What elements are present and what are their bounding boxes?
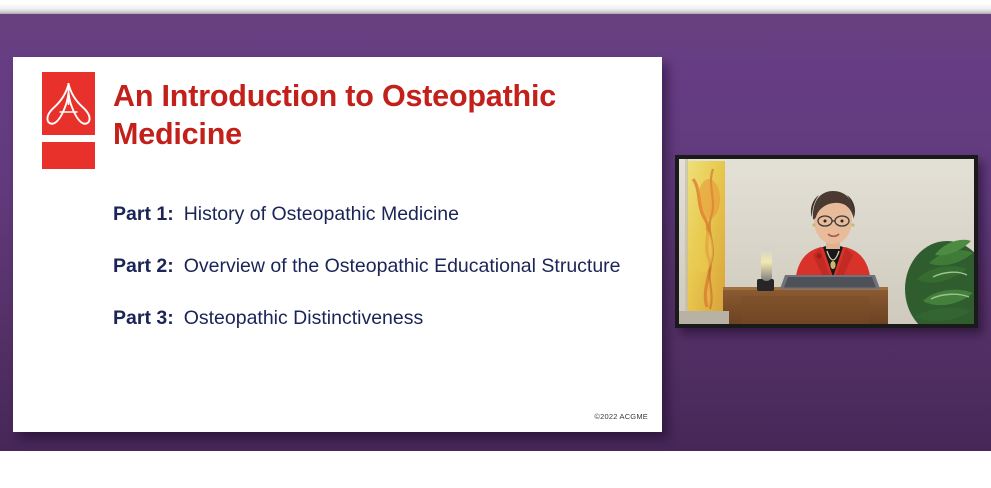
slide-copyright: ©2022 ACGME <box>594 412 648 421</box>
agenda-item-label: Part 1: <box>113 202 174 228</box>
presenter-video-frame <box>679 159 974 324</box>
agenda-item-text: Overview of the Osteopathic Educational … <box>174 254 643 280</box>
agenda-item-text: History of Osteopathic Medicine <box>174 202 643 228</box>
acgme-logo-mark-icon <box>42 72 95 135</box>
acgme-logo <box>42 72 95 168</box>
agenda-item-label: Part 3: <box>113 306 174 332</box>
slide-title: An Introduction to Osteopathic Medicine <box>113 77 633 154</box>
acgme-logo-bar <box>42 142 95 169</box>
agenda-item: Part 1: History of Osteopathic Medicine <box>113 202 643 228</box>
presentation-viewer: An Introduction to Osteopathic Medicine … <box>0 0 991 488</box>
slide-agenda-list: Part 1: History of Osteopathic Medicine … <box>113 202 643 332</box>
agenda-item: Part 2: Overview of the Osteopathic Educ… <box>113 254 643 280</box>
agenda-item-text: Osteopathic Distinctiveness <box>174 306 643 332</box>
top-bevel-strip <box>0 0 991 14</box>
slide-canvas[interactable]: An Introduction to Osteopathic Medicine … <box>13 57 662 432</box>
agenda-item: Part 3: Osteopathic Distinctiveness <box>113 306 643 332</box>
presenter-video-panel[interactable] <box>675 155 978 328</box>
agenda-item-label: Part 2: <box>113 254 174 280</box>
